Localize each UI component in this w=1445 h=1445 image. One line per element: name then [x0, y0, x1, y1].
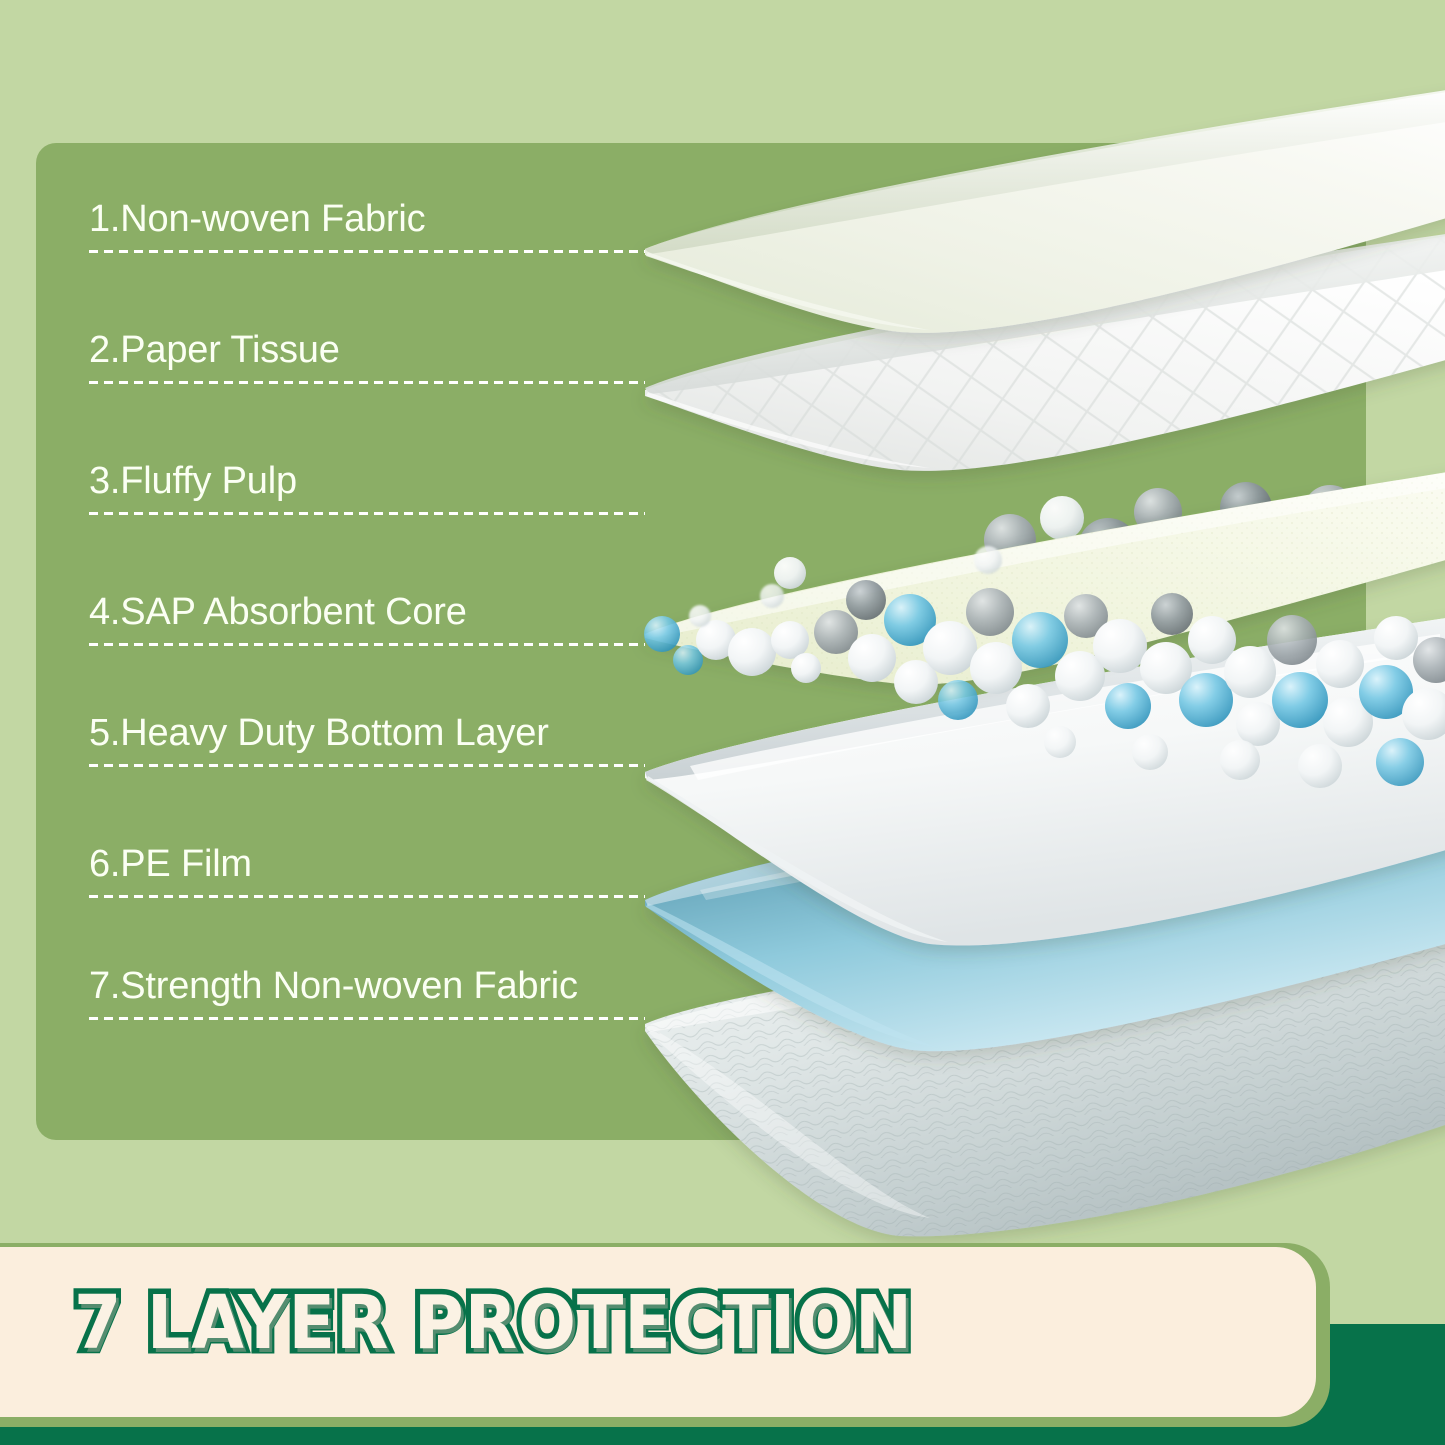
- leader-line-2: [89, 381, 645, 384]
- layer-row-4: 4.SAP Absorbent Core: [89, 591, 645, 646]
- layer-row-5: 5.Heavy Duty Bottom Layer: [89, 712, 645, 767]
- layer-row-3: 3.Fluffy Pulp: [89, 460, 645, 515]
- leader-line-7: [89, 1017, 645, 1020]
- layer-label-2: 2.Paper Tissue: [89, 329, 645, 371]
- layer-label-list: 1.Non-woven Fabric 2.Paper Tissue 3.Fluf…: [0, 0, 700, 1140]
- leader-line-4: [89, 643, 645, 646]
- layer-row-6: 6.PE Film: [89, 843, 645, 898]
- layer-label-5: 5.Heavy Duty Bottom Layer: [89, 712, 645, 754]
- layer-label-1: 1.Non-woven Fabric: [89, 198, 645, 240]
- leader-line-6: [89, 895, 645, 898]
- leader-line-1: [89, 250, 645, 253]
- banner-title: 7 LAYER PROTECTION: [74, 1283, 913, 1363]
- layer-label-7: 7.Strength Non-woven Fabric: [89, 965, 645, 1007]
- layer-label-3: 3.Fluffy Pulp: [89, 460, 645, 502]
- layer-label-4: 4.SAP Absorbent Core: [89, 591, 645, 633]
- layer-row-7: 7.Strength Non-woven Fabric: [89, 965, 645, 1020]
- infographic-page: 1.Non-woven Fabric 2.Paper Tissue 3.Fluf…: [0, 0, 1445, 1445]
- leader-line-3: [89, 512, 645, 515]
- layer-row-2: 2.Paper Tissue: [89, 329, 645, 384]
- leader-line-5: [89, 764, 645, 767]
- layer-row-1: 1.Non-woven Fabric: [89, 198, 645, 253]
- layer-label-6: 6.PE Film: [89, 843, 645, 885]
